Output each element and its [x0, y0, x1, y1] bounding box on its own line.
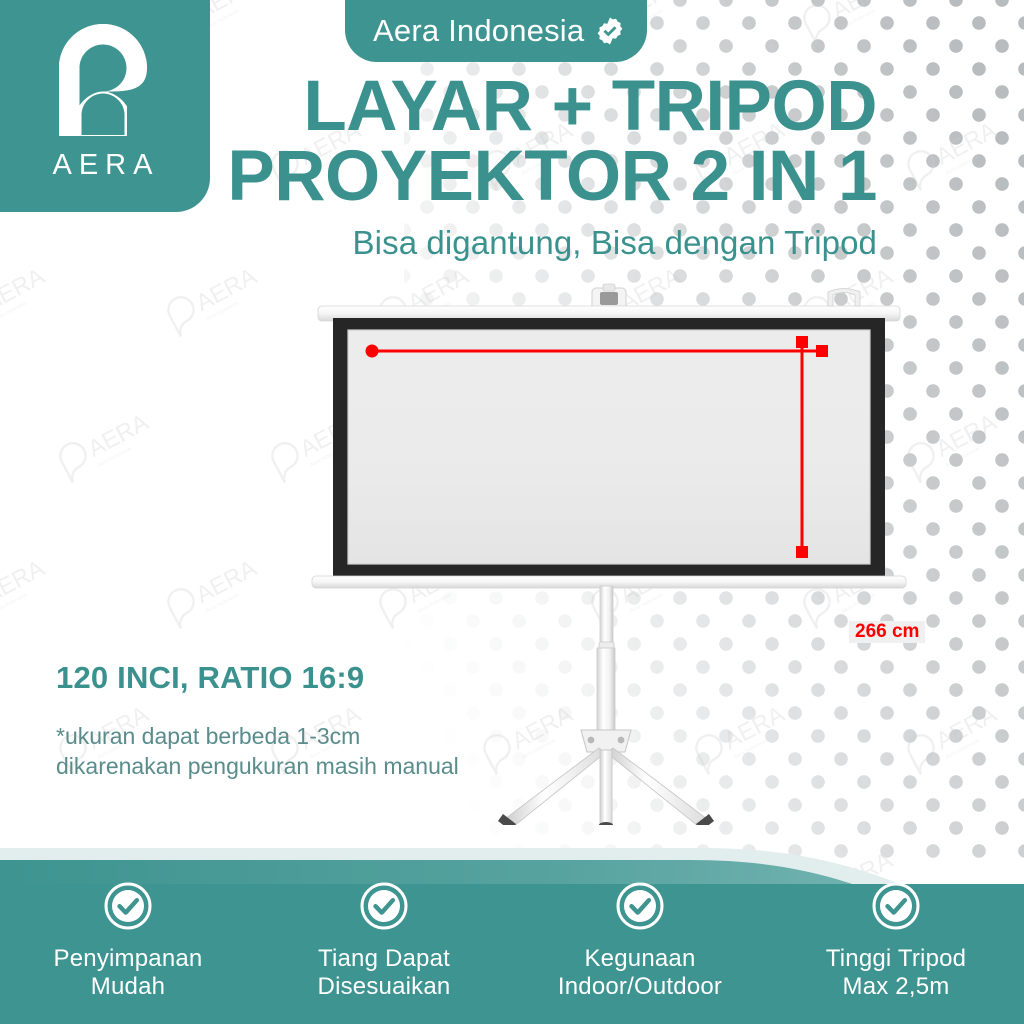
svg-text:AERA: AERA — [192, 264, 261, 317]
width-measurement-label: 266 cm — [849, 621, 925, 643]
aera-watermark: AERAAera Indonesia — [0, 248, 65, 355]
aera-watermark: AERAAera Indonesia — [37, 394, 168, 501]
feature-item: Kegunaan Indoor/Outdoor — [512, 882, 768, 1001]
svg-text:Aera Indonesia: Aera Indonesia — [0, 592, 29, 615]
svg-text:AERA: AERA — [192, 556, 261, 609]
svg-text:Aera Indonesia: Aera Indonesia — [205, 8, 241, 31]
spec-note: *ukuran dapat berbeda 1-3cm dikarenakan … — [56, 722, 476, 782]
tripod-leg-center — [600, 750, 612, 824]
svg-text:Aera Indonesia: Aera Indonesia — [97, 446, 133, 469]
check-circle-icon — [616, 882, 664, 930]
headline-subtitle: Bisa digantung, Bisa dengan Tripod — [0, 224, 877, 262]
screen-surface — [348, 330, 870, 564]
svg-text:AERA: AERA — [84, 410, 153, 463]
brand-name-pill: Aera Indonesia — [345, 0, 647, 62]
headline-block: LAYAR + TRIPOD PROYEKTOR 2 IN 1 Bisa dig… — [0, 72, 955, 262]
tripod-leg-left — [505, 748, 605, 825]
aera-watermark: AERAAera Indonesia — [145, 540, 276, 647]
svg-text:AERA: AERA — [932, 702, 1001, 755]
svg-text:Aera Indonesia: Aera Indonesia — [205, 300, 241, 323]
check-circle-icon — [360, 882, 408, 930]
spec-block: 120 INCI, RATIO 16:9 *ukuran dapat berbe… — [56, 660, 476, 782]
svg-text:Aera Indonesia: Aera Indonesia — [841, 8, 877, 31]
feature-item: Penyimpanan Mudah — [0, 882, 256, 1001]
feature-label: Tinggi Tripod Max 2,5m — [826, 945, 966, 1001]
feature-label: Penyimpanan Mudah — [54, 945, 203, 1001]
feature-item: Tinggi Tripod Max 2,5m — [768, 882, 1024, 1001]
spec-title: 120 INCI, RATIO 16:9 — [56, 660, 476, 696]
svg-text:AERA: AERA — [0, 264, 49, 317]
check-circle-icon — [104, 882, 152, 930]
aera-watermark: AERAAera Indonesia — [781, 0, 912, 62]
feature-label: Kegunaan Indoor/Outdoor — [558, 945, 722, 1001]
svg-text:Aera Indonesia: Aera Indonesia — [205, 592, 241, 615]
svg-text:Aera Indonesia: Aera Indonesia — [0, 300, 29, 323]
svg-text:AERA: AERA — [932, 410, 1001, 463]
product-poster: AERAAera IndonesiaAERAAera IndonesiaAERA… — [0, 0, 1024, 1024]
aera-watermark: AERAAera Indonesia — [145, 248, 276, 355]
headline-line-2: PROYEKTOR 2 IN 1 — [0, 142, 877, 212]
svg-text:AERA: AERA — [828, 0, 897, 25]
svg-text:Aera Indonesia: Aera Indonesia — [945, 446, 981, 469]
feature-band: Penyimpanan MudahTiang Dapat Disesuaikan… — [0, 824, 1024, 1024]
tripod-stand — [498, 586, 714, 825]
headline-line-1: LAYAR + TRIPOD — [0, 72, 877, 142]
screen-side-hook — [828, 289, 860, 307]
verified-badge-icon — [595, 16, 625, 46]
brand-pill-label: Aera Indonesia — [373, 13, 584, 49]
feature-list: Penyimpanan MudahTiang Dapat Disesuaikan… — [0, 860, 1024, 1024]
svg-text:AERA: AERA — [0, 556, 49, 609]
check-circle-icon — [872, 882, 920, 930]
svg-text:Aera Indonesia: Aera Indonesia — [945, 738, 981, 761]
feature-item: Tiang Dapat Disesuaikan — [256, 882, 512, 1001]
tripod-leg-right — [607, 748, 707, 825]
feature-label: Tiang Dapat Disesuaikan — [318, 945, 451, 1001]
aera-watermark: AERAAera Indonesia — [0, 540, 65, 647]
